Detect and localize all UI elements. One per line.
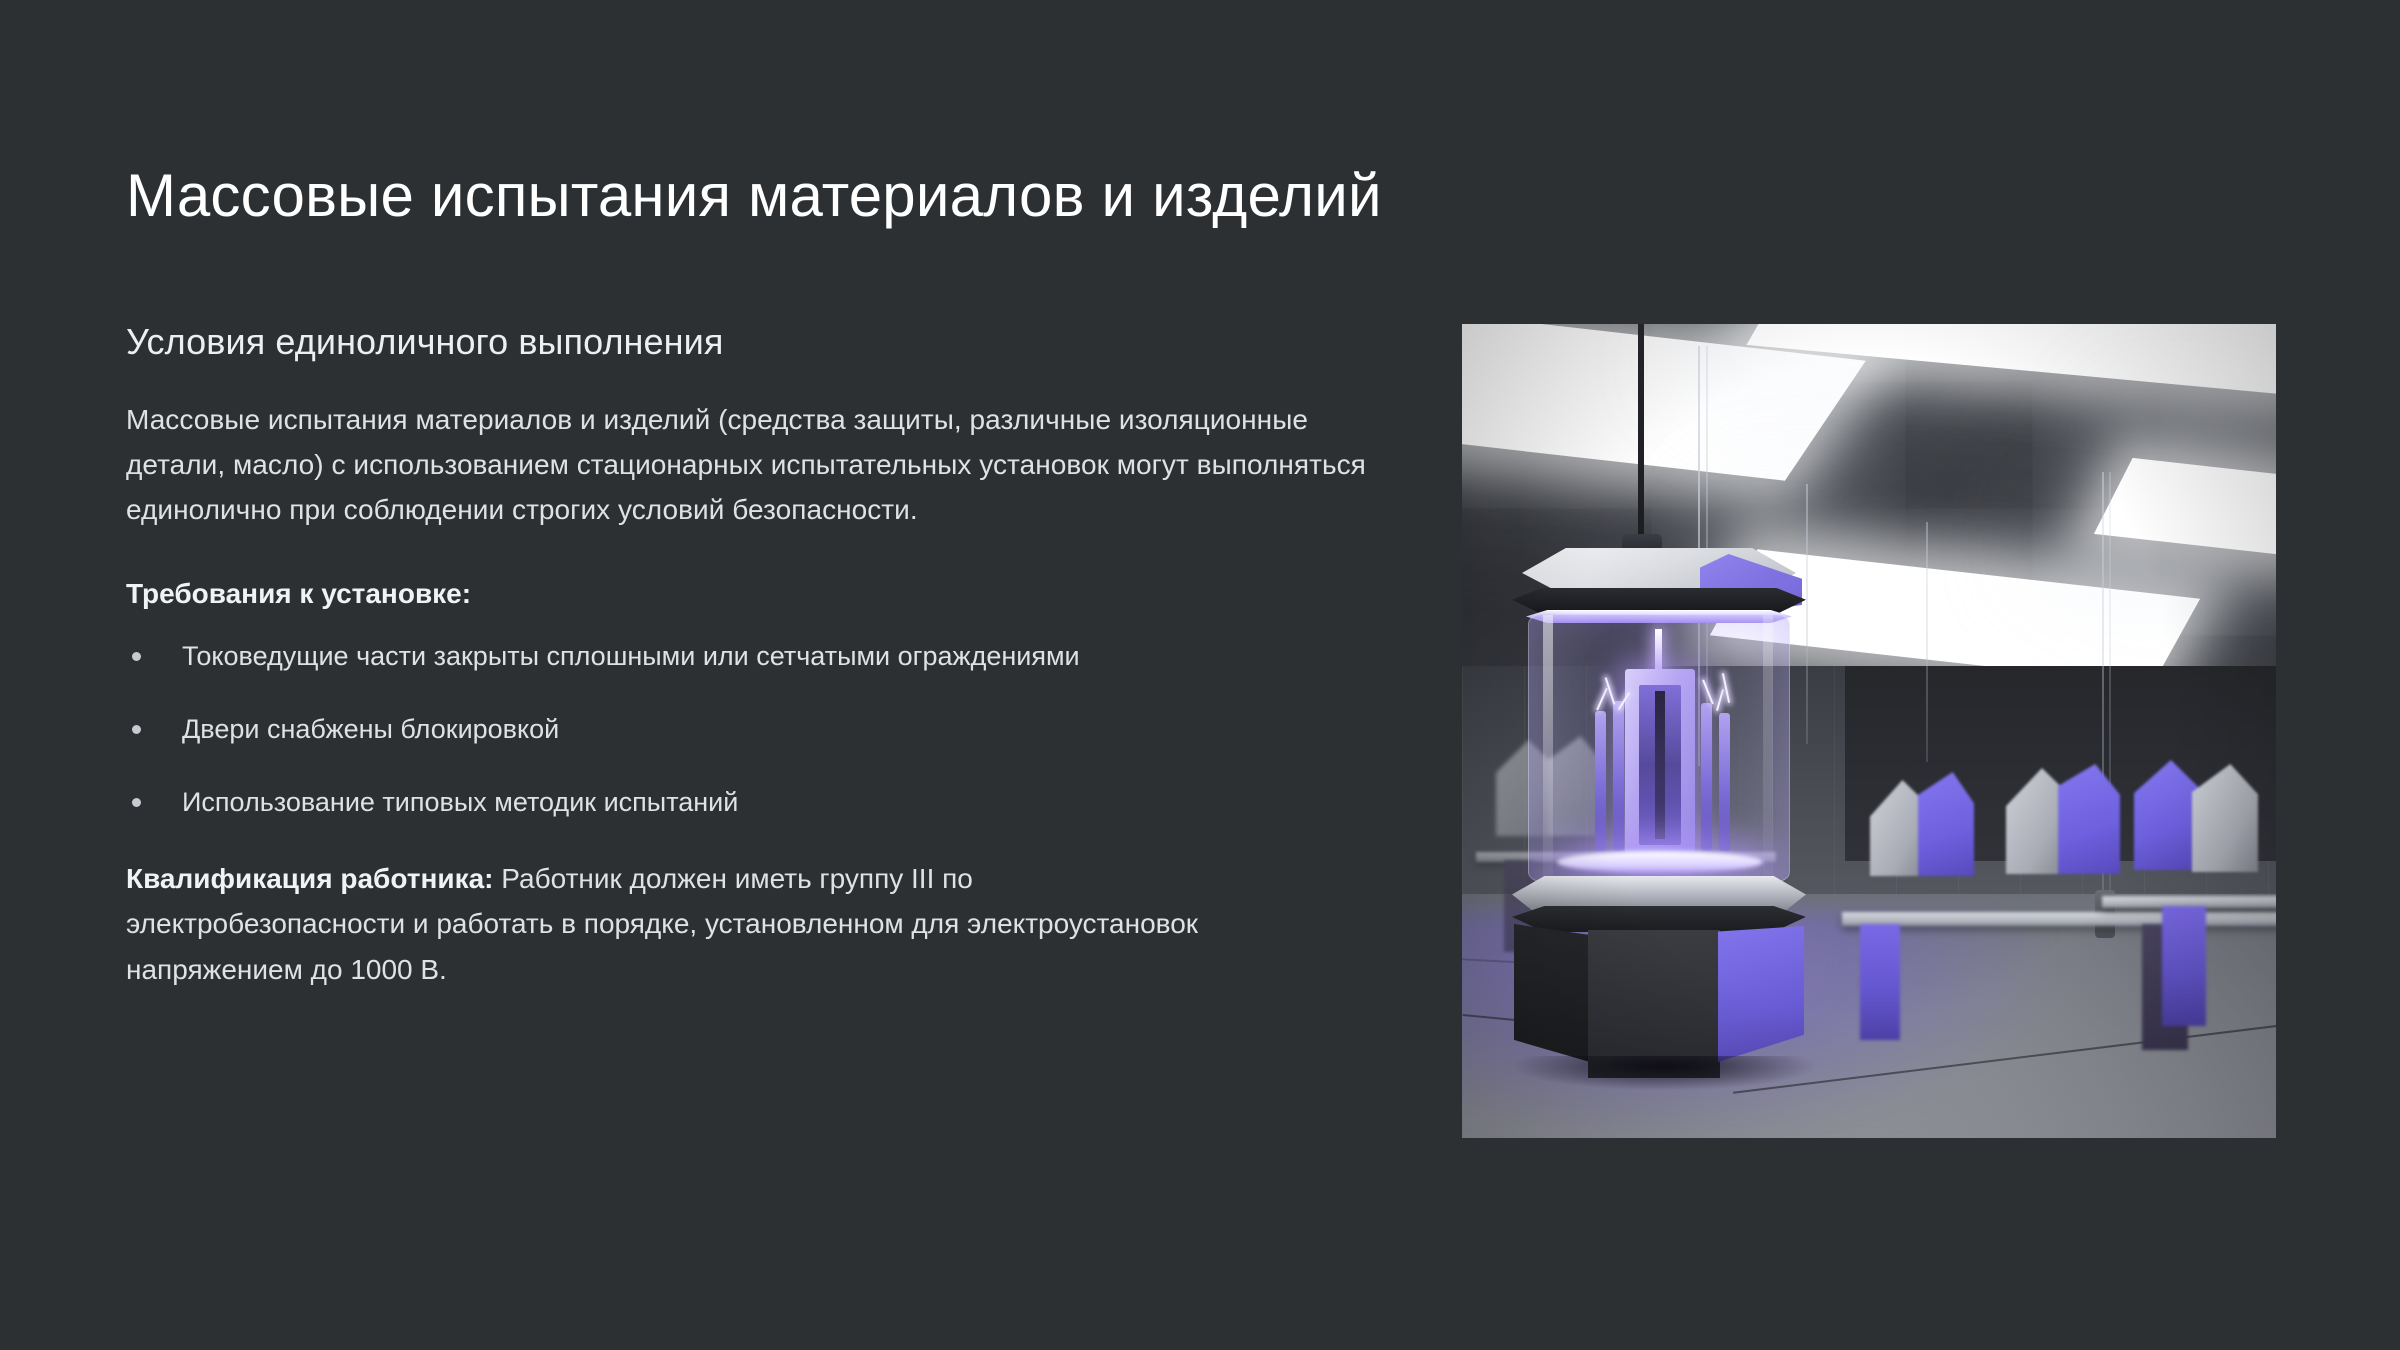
list-item-label: Использование типовых методик испытаний	[182, 787, 738, 817]
fixture-blade	[1918, 772, 1974, 876]
bullet-dot-icon	[132, 652, 141, 661]
glass-highlight	[1763, 615, 1773, 881]
chamber-stage-light	[1557, 851, 1763, 873]
content-column: Условия единоличного выполнения Массовые…	[126, 318, 1386, 992]
electric-arc	[1596, 688, 1607, 711]
list-item: Двери снабжены блокировкой	[126, 710, 1386, 749]
lab-scene	[1462, 324, 2276, 1138]
qualification-paragraph: Квалификация работника: Работник должен …	[126, 856, 1236, 992]
electrode-rod	[1701, 703, 1712, 851]
electric-arc	[1722, 673, 1730, 703]
lab-illustration	[1462, 324, 2276, 1138]
electric-arc	[1716, 689, 1724, 711]
fixture-blade	[2058, 764, 2120, 874]
base-right-face	[1718, 926, 1804, 1062]
slide-root: Массовые испытания материалов и изделий …	[0, 0, 2400, 1350]
test-chamber	[1504, 540, 1814, 1100]
list-item: Токоведущие части закрыты сплошными или …	[126, 637, 1386, 676]
test-fixture	[2134, 758, 2274, 882]
bullet-dot-icon	[132, 725, 141, 734]
test-fixture	[1862, 772, 1992, 882]
test-fixture	[2002, 764, 2132, 884]
chamber-glass-enclosure	[1528, 614, 1790, 882]
specimen-core	[1639, 685, 1681, 845]
chamber-lid	[1504, 548, 1814, 622]
qualification-lead: Квалификация работника:	[126, 863, 493, 894]
chamber-base	[1514, 924, 1804, 1084]
base-left-face	[1514, 924, 1590, 1062]
glass-highlight	[1543, 615, 1553, 881]
fixture-blade	[2134, 760, 2200, 870]
intro-paragraph: Массовые испытания материалов и изделий …	[126, 397, 1381, 533]
requirements-list: Токоведущие части закрыты сплошными или …	[126, 637, 1386, 822]
bullet-dot-icon	[132, 798, 141, 807]
hanging-cable	[1926, 522, 1928, 762]
page-title: Массовые испытания материалов и изделий	[126, 160, 1382, 232]
electric-arc	[1702, 680, 1713, 705]
electrode-rod	[1719, 713, 1730, 851]
test-specimen	[1625, 669, 1695, 861]
list-item: Использование типовых методик испытаний	[126, 783, 1386, 822]
section-subtitle: Условия единоличного выполнения	[126, 318, 1386, 367]
base-contact-shadow	[1514, 1056, 1814, 1090]
bench-leg	[1860, 924, 1900, 1040]
electrode-rod	[1613, 701, 1624, 851]
ceiling-light-panel	[2094, 458, 2276, 578]
list-item-label: Токоведущие части закрыты сплошными или …	[182, 641, 1080, 671]
electrode-rod	[1595, 711, 1606, 851]
requirements-heading: Требования к установке:	[126, 573, 1386, 615]
electric-arc	[1605, 677, 1615, 704]
bench-leg	[2162, 906, 2206, 1026]
chamber-suspension-rod	[1638, 324, 1644, 540]
fixture-blade	[2192, 764, 2258, 872]
specimen-feed-rod	[1655, 629, 1662, 673]
list-item-label: Двери снабжены блокировкой	[182, 714, 559, 744]
